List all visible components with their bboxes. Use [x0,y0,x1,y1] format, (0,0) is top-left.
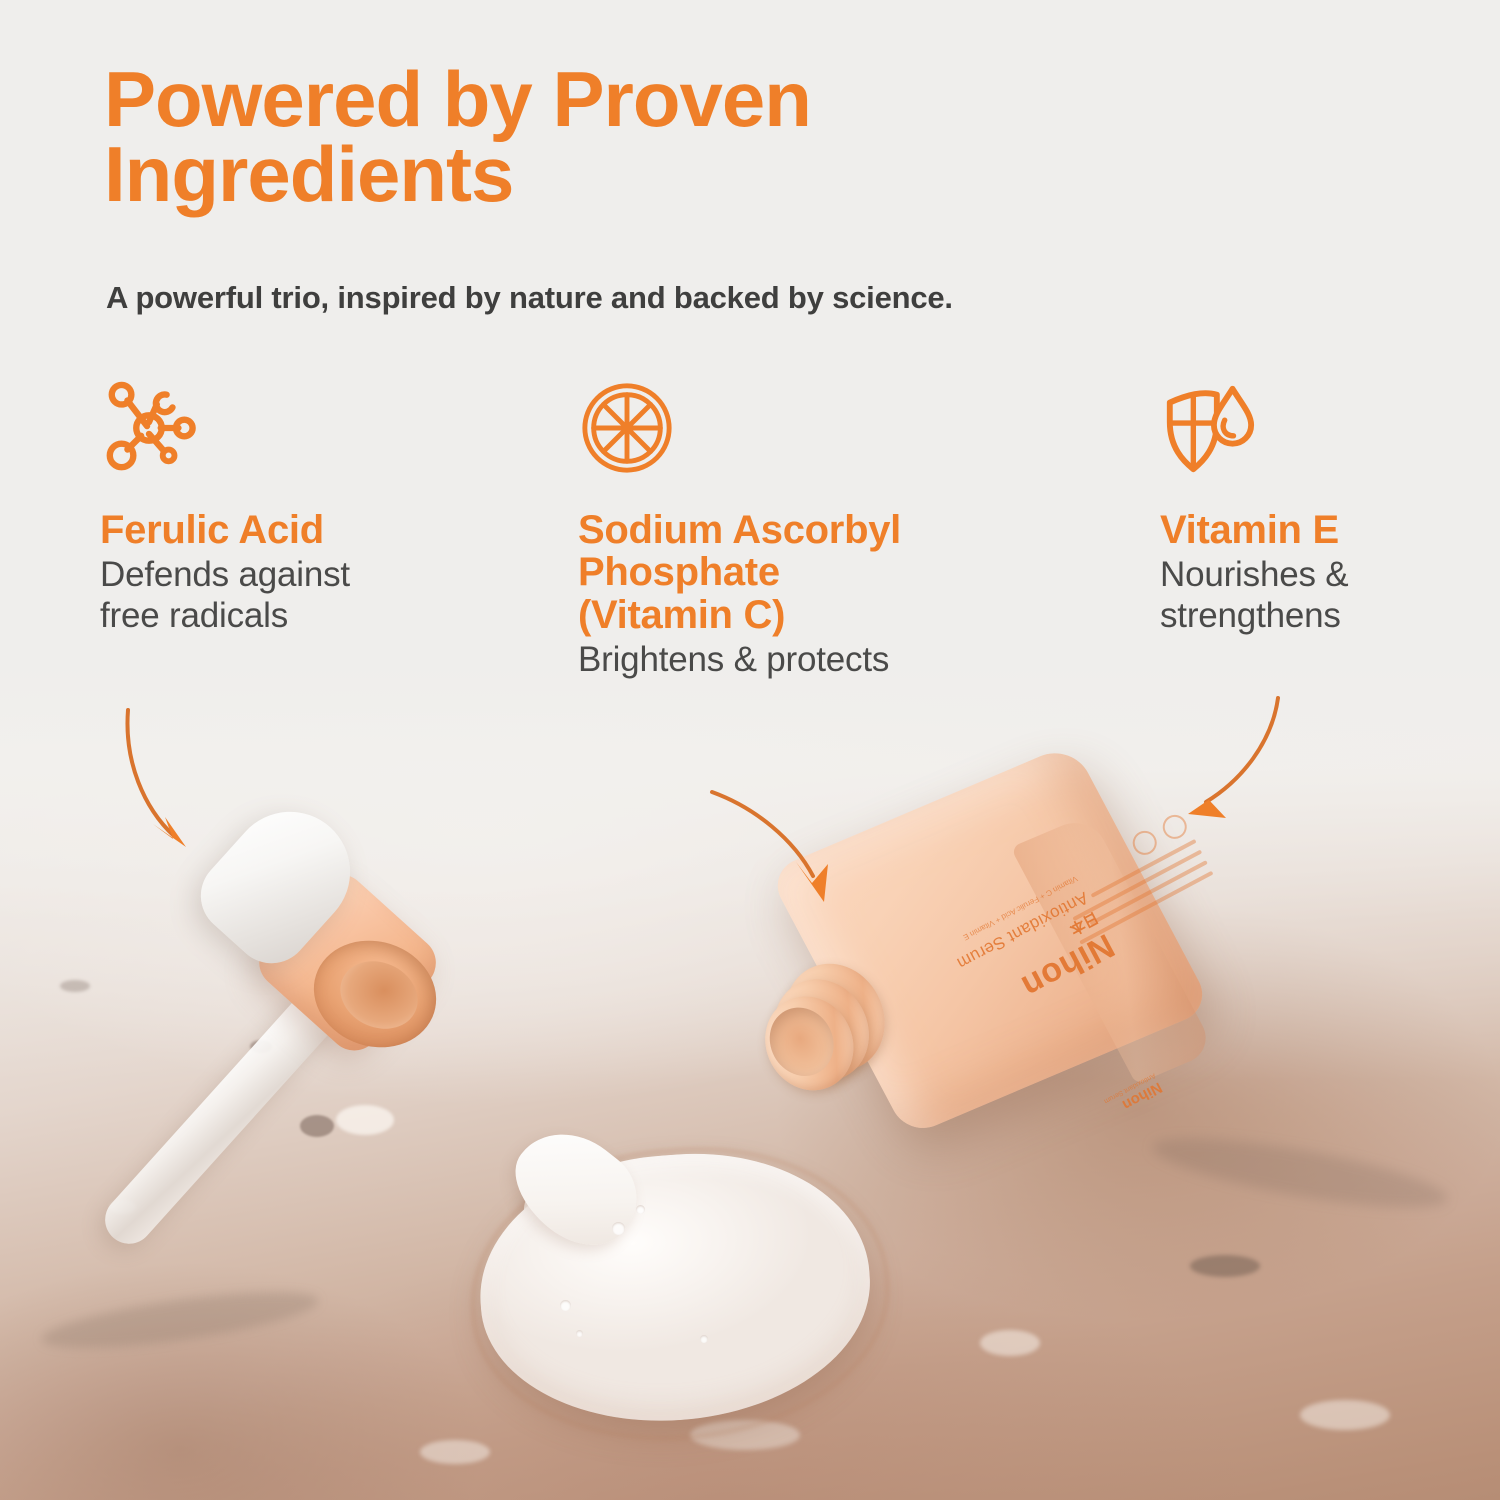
page-title-line-2: Ingredients [104,137,1104,212]
page-subtitle: A powerful trio, inspired by nature and … [106,280,1356,316]
ingredient-title-line-1: Sodium Ascorbyl [578,509,1048,551]
arrow-to-bottle-icon [1168,688,1318,828]
ingredient-description: Brightens & protects [578,640,1048,680]
arrow-to-dropper-icon [110,700,250,870]
page-title-line-1: Powered by Proven [104,62,1104,137]
serum-bubble [700,1335,708,1343]
ingredient-description: Defends against free radicals [100,555,520,636]
ingredient-title: Vitamin E [1160,509,1460,551]
serum-bubble [560,1300,571,1311]
ingredient-description-line-1: Defends against [100,555,520,595]
ingredient-description: Nourishes & strengthens [1160,555,1460,636]
ingredient-title: Ferulic Acid [100,509,520,551]
infographic-page: Nihon 日本 Antioxidant Serum Vitamin C + F… [0,0,1500,1500]
ingredient-description-line-2: free radicals [100,596,520,636]
serum-bubble [612,1222,625,1235]
ingredient-title-line-2: Phosphate [578,551,1048,593]
ingredient-card-vitamin-e: Vitamin E Nourishes & strengthens [1160,378,1460,636]
page-title: Powered by Proven Ingredients [104,62,1104,212]
ingredient-card-ferulic-acid: Ferulic Acid Defends against free radica… [100,378,520,636]
arrow-to-serum-puddle-icon [700,762,870,912]
serum-bubble [576,1330,583,1337]
ingredient-title-line-3: (Vitamin C) [578,594,1048,636]
ingredient-description-line-1: Nourishes & [1160,555,1460,595]
ingredient-description-line-1: Brightens & protects [578,640,1048,680]
ingredient-card-vitamin-c: Sodium Ascorbyl Phosphate (Vitamin C) Br… [578,378,1048,680]
citrus-slice-icon [578,378,676,478]
ingredient-title: Sodium Ascorbyl Phosphate (Vitamin C) [578,509,1048,636]
molecule-icon [100,378,198,478]
ingredient-description-line-2: strengthens [1160,596,1460,636]
serum-bubble [636,1205,645,1214]
label-symbol-icon [1128,827,1160,859]
shield-droplet-icon [1160,378,1258,478]
